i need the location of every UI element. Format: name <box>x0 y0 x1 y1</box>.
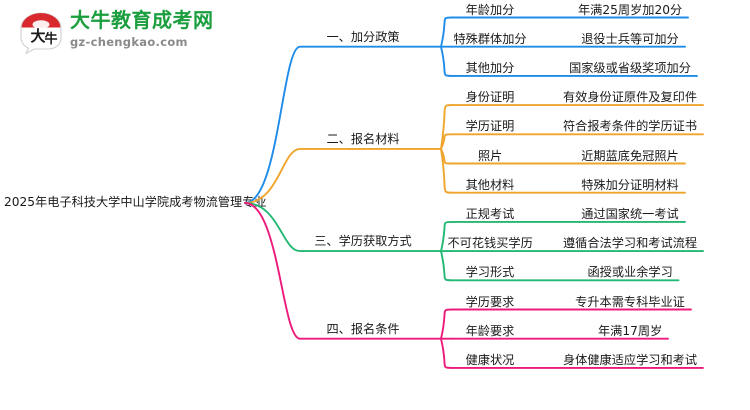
subtopic-node[interactable]: 年龄要求 <box>466 323 515 339</box>
detail-node[interactable]: 专升本需专科毕业证 <box>575 294 685 310</box>
subtopic-node[interactable]: 学习形式 <box>466 264 515 280</box>
detail-node[interactable]: 身体健康适应学习和考试 <box>563 352 697 368</box>
subtopic-node[interactable]: 健康状况 <box>466 352 515 368</box>
branch-label[interactable]: 四、报名条件 <box>327 321 400 337</box>
connector-path <box>441 134 452 149</box>
subtopic-node[interactable]: 年龄加分 <box>466 2 515 18</box>
detail-node[interactable]: 退役士兵等可加分 <box>581 31 679 47</box>
svg-text:大: 大 <box>30 27 45 45</box>
subtopic-node[interactable]: 不可花钱买学历 <box>448 235 533 251</box>
subtopic-node[interactable]: 学历证明 <box>466 118 515 134</box>
daniu-logo-icon: 大 牛 <box>18 8 64 54</box>
detail-node[interactable]: 近期蓝底免冠照片 <box>581 148 679 164</box>
subtopic-node[interactable]: 正规考试 <box>466 206 515 222</box>
detail-node[interactable]: 有效身份证原件及复印件 <box>563 89 697 105</box>
detail-node[interactable]: 年满17周岁 <box>598 323 662 339</box>
connector-path <box>245 149 441 203</box>
connector-path <box>441 47 452 76</box>
detail-node[interactable]: 函授或业余学习 <box>588 264 673 280</box>
subtopic-node[interactable]: 其他加分 <box>466 60 515 76</box>
branch-label[interactable]: 三、学历获取方式 <box>314 233 412 249</box>
connector-path <box>441 339 452 368</box>
subtopic-node[interactable]: 其他材料 <box>466 177 515 193</box>
branch-label[interactable]: 二、报名材料 <box>327 131 400 147</box>
brand-name-cn: 大牛教育成考网 <box>70 8 252 32</box>
mindmap-canvas: 大 牛 大牛教育成考网 gz-chengkao.com 2025年电子科技大学中… <box>0 0 750 410</box>
subtopic-node[interactable]: 身份证明 <box>466 89 515 105</box>
connector-path <box>245 203 441 339</box>
connector-path <box>245 47 441 203</box>
connector-path <box>441 149 452 164</box>
connector-path <box>441 18 452 47</box>
connector-path <box>441 251 452 280</box>
detail-node[interactable]: 符合报考条件的学历证书 <box>563 118 697 134</box>
connector-path <box>441 105 452 149</box>
connector-path <box>441 149 452 193</box>
subtopic-node[interactable]: 特殊群体加分 <box>454 31 527 47</box>
detail-node[interactable]: 特殊加分证明材料 <box>581 177 679 193</box>
brand-domain: gz-chengkao.com <box>70 34 252 50</box>
detail-node[interactable]: 年满25周岁加20分 <box>578 2 682 18</box>
connector-path <box>441 310 452 339</box>
branch-label[interactable]: 一、加分政策 <box>327 29 400 45</box>
detail-node[interactable]: 遵循合法学习和考试流程 <box>563 235 697 251</box>
detail-node[interactable]: 通过国家统一考试 <box>581 206 679 222</box>
subtopic-node[interactable]: 照片 <box>478 148 502 164</box>
site-logo: 大 牛 大牛教育成考网 gz-chengkao.com <box>18 6 253 58</box>
subtopic-node[interactable]: 学历要求 <box>466 294 515 310</box>
root-node[interactable]: 2025年电子科技大学中山学院成考物流管理专业 <box>4 194 240 211</box>
detail-node[interactable]: 国家级或省级奖项加分 <box>569 60 691 76</box>
svg-text:牛: 牛 <box>44 31 57 47</box>
